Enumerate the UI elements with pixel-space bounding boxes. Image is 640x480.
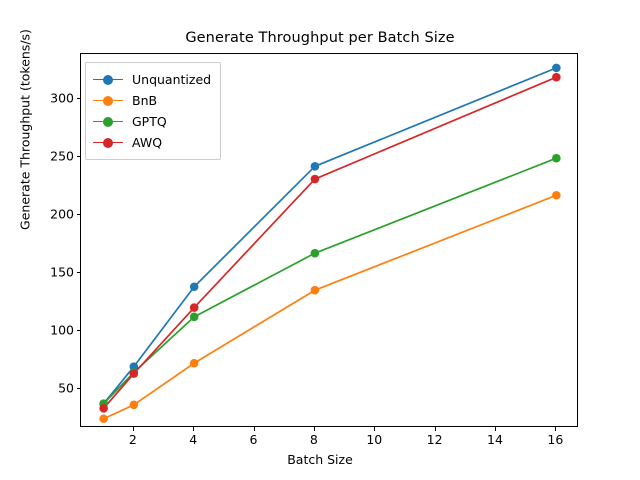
data-point-marker — [311, 286, 320, 295]
x-tick-label: 12 — [427, 432, 443, 447]
x-axis-tick-labels: 246810121416 — [0, 432, 640, 452]
y-tick-label: 250 — [50, 149, 74, 164]
y-tick-mark — [77, 272, 81, 273]
x-tick-mark — [254, 427, 255, 431]
data-point-marker — [190, 313, 199, 322]
x-tick-label: 6 — [250, 432, 258, 447]
legend-marker-icon — [93, 73, 123, 87]
x-tick-mark — [555, 427, 556, 431]
series-line — [104, 158, 557, 403]
data-point-marker — [311, 249, 320, 258]
x-axis-label: Batch Size — [0, 452, 640, 467]
legend-item-label: BnB — [132, 93, 157, 108]
x-tick-label: 8 — [310, 432, 318, 447]
y-tick-label: 100 — [50, 322, 74, 337]
data-point-marker — [311, 175, 320, 184]
data-point-marker — [552, 154, 561, 163]
y-tick-label: 150 — [50, 264, 74, 279]
y-axis-tick-labels: 50100150200250300 — [26, 0, 74, 480]
x-tick-mark — [495, 427, 496, 431]
y-tick-label: 300 — [50, 91, 74, 106]
legend-item-label: Unquantized — [132, 72, 211, 87]
data-point-marker — [552, 191, 561, 200]
legend-item-label: GPTQ — [132, 114, 167, 129]
legend-item[interactable]: GPTQ — [93, 111, 211, 132]
data-point-marker — [190, 359, 199, 368]
legend-item[interactable]: AWQ — [93, 132, 211, 153]
chart-title: Generate Throughput per Batch Size — [0, 30, 640, 46]
x-tick-label: 10 — [366, 432, 382, 447]
x-tick-mark — [193, 427, 194, 431]
series-line — [104, 195, 557, 418]
x-tick-mark — [133, 427, 134, 431]
data-point-marker — [130, 369, 139, 378]
y-tick-mark — [77, 98, 81, 99]
y-tick-label: 200 — [50, 206, 74, 221]
data-point-marker — [190, 282, 199, 291]
y-tick-mark — [77, 330, 81, 331]
x-tick-label: 14 — [487, 432, 503, 447]
x-tick-mark — [314, 427, 315, 431]
legend-marker-icon — [93, 94, 123, 108]
data-point-marker — [99, 414, 108, 423]
y-tick-mark — [77, 156, 81, 157]
x-tick-label: 16 — [547, 432, 563, 447]
x-tick-label: 2 — [129, 432, 137, 447]
legend-marker-icon — [93, 136, 123, 150]
x-tick-label: 4 — [189, 432, 197, 447]
data-point-marker — [130, 401, 139, 410]
figure-canvas: Generate Throughput per Batch Size Gener… — [0, 0, 640, 480]
data-point-marker — [190, 303, 199, 312]
x-tick-mark — [435, 427, 436, 431]
y-tick-mark — [77, 388, 81, 389]
legend-item[interactable]: BnB — [93, 90, 211, 111]
legend-item-label: AWQ — [132, 135, 162, 150]
data-point-marker — [311, 162, 320, 171]
y-tick-mark — [77, 214, 81, 215]
data-point-marker — [552, 64, 561, 73]
chart-legend[interactable]: UnquantizedBnBGPTQAWQ — [85, 62, 221, 160]
y-tick-label: 50 — [58, 380, 74, 395]
legend-item[interactable]: Unquantized — [93, 69, 211, 90]
legend-marker-icon — [93, 115, 123, 129]
x-tick-mark — [374, 427, 375, 431]
data-point-marker — [552, 73, 561, 82]
data-point-marker — [99, 404, 108, 413]
